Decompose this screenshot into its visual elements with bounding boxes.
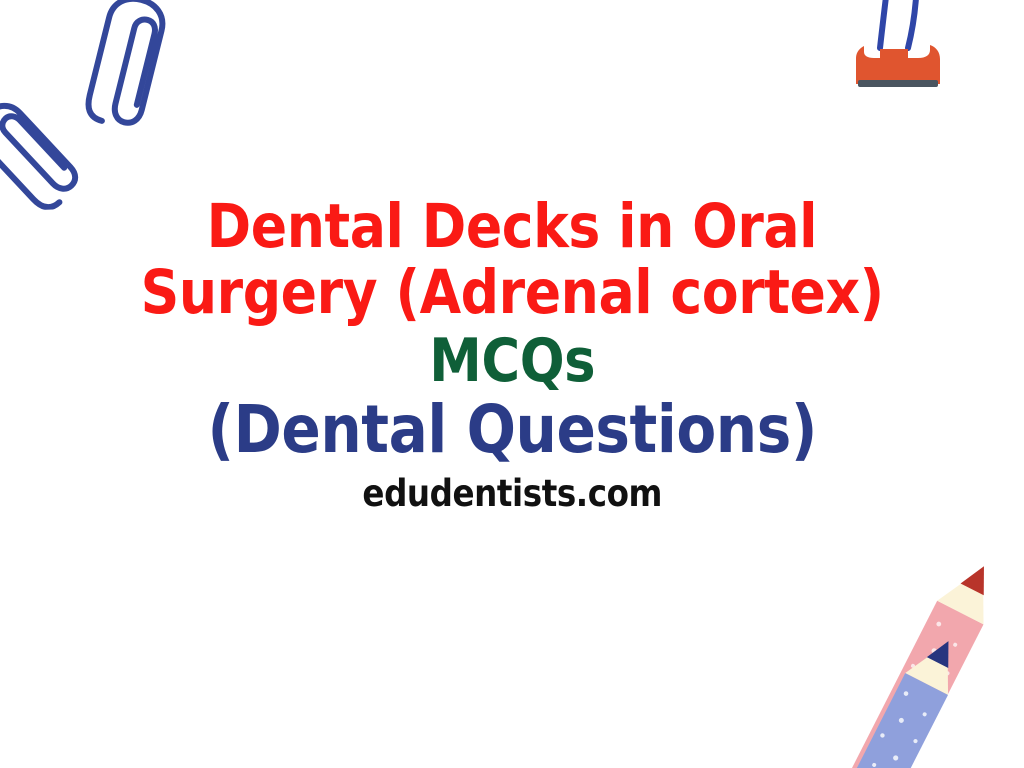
page-title-line-2: Surgery (Adrenal cortex) (140, 262, 883, 323)
poster-text-block: Dental Decks in Oral Surgery (Adrenal co… (0, 0, 1024, 768)
page-title-line-1: Dental Decks in Oral (207, 196, 818, 257)
poster-canvas: Dental Decks in Oral Surgery (Adrenal co… (0, 0, 1024, 768)
subtitle-mcqs: MCQs (429, 331, 595, 391)
site-url-text: edudentists.com (362, 475, 662, 512)
subtitle-dental-questions: (Dental Questions) (207, 397, 816, 463)
